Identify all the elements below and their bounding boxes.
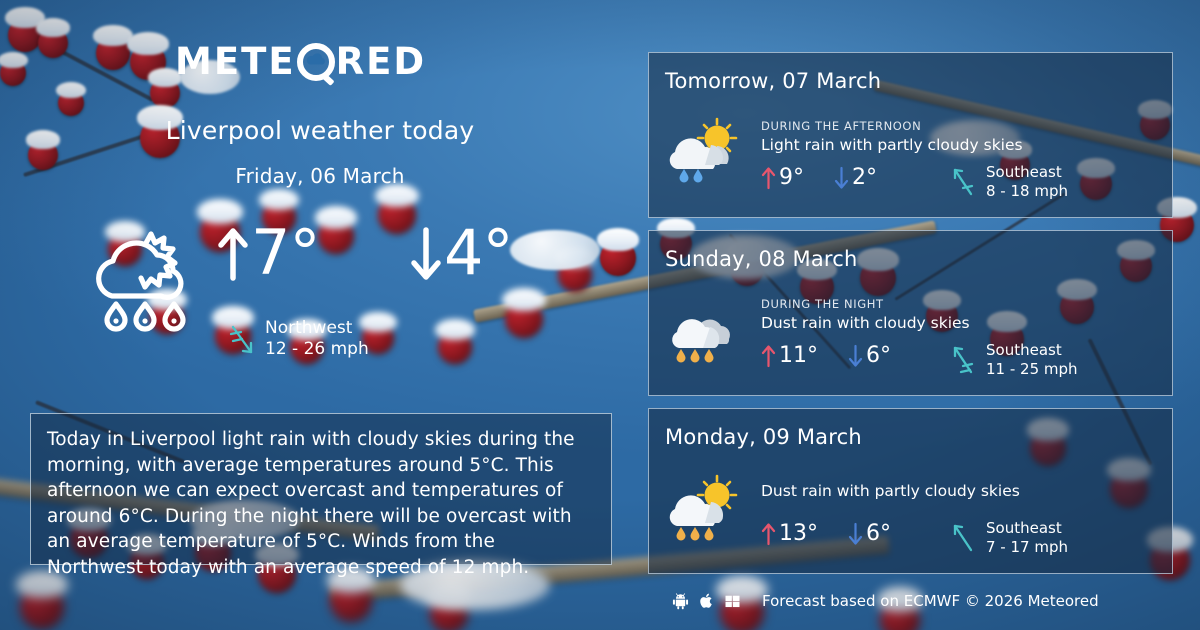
forecast-temps: 11° 6° [761,343,891,369]
footer-credit: Forecast based on ECMWF © 2026 Meteored [762,592,1099,610]
arrow-up-icon [761,343,776,369]
arrow-down-icon [848,521,863,547]
today-summary-row: 7° 4° [0,218,640,358]
forecast-max-temp: 9° [779,165,804,191]
today-wind-speed: 12 - 26 mph [265,339,369,360]
page-title: Liverpool weather today [0,116,640,145]
today-wind-direction: Northwest [265,318,369,339]
today-wind-text: Northwest 12 - 26 mph [265,318,369,360]
today-min-temp-group: 4° [408,222,512,284]
apple-icon[interactable] [698,592,715,610]
forecast-wind-speed: 8 - 18 mph [986,182,1068,201]
double-cloud-dust-rain-icon [667,293,743,369]
arrow-up-icon [215,222,251,284]
arrow-down-icon [834,165,849,191]
arrow-up-icon [761,165,776,191]
forecast-card[interactable]: Monday, 09 March [648,408,1173,574]
forecast-day: Monday, 09 March [665,425,862,449]
forecast-max-temp: 11° [779,343,818,369]
arrow-down-icon [408,222,444,284]
footer: Forecast based on ECMWF © 2026 Meteored [672,592,1099,610]
forecast-max-temp: 13° [779,521,818,547]
forecast-cards-list: Tomorrow, 07 March [648,52,1173,586]
forecast-wind-text: Southeast 7 - 17 mph [986,519,1068,557]
android-icon[interactable] [672,592,689,610]
forecast-min-group: 6° [848,343,891,369]
forecast-condition: Light rain with partly cloudy skies [761,136,1023,154]
arrow-up-icon [761,521,776,547]
forecast-max-group: 11° [761,343,818,369]
forecast-time-label: DURING THE AFTERNOON [761,119,921,133]
forecast-min-group: 2° [834,165,877,191]
sun-cloud-blue-rain-icon [667,115,743,191]
forecast-wind-group: Southeast 8 - 18 mph [949,163,1068,201]
forecast-min-temp: 6° [866,521,891,547]
today-description-box: Today in Liverpool light rain with cloud… [30,413,612,565]
forecast-card[interactable]: Sunday, 08 March DURING THE NIGHT Dust r… [648,230,1173,396]
forecast-condition: Dust rain with partly cloudy skies [761,482,1020,500]
forecast-max-group: 9° [761,165,804,191]
arrow-down-icon [848,343,863,369]
today-date: Friday, 06 March [0,164,640,188]
logo-text-left: METE [175,40,296,84]
forecast-wind-direction: Southeast [986,341,1078,360]
wind-arrow-northwest-icon [949,344,975,376]
windows-icon[interactable] [724,592,741,610]
today-description-text: Today in Liverpool light rain with cloud… [47,427,595,580]
forecast-wind-direction: Southeast [986,163,1068,182]
forecast-min-temp: 2° [852,165,877,191]
today-min-temp: 4° [444,222,512,284]
forecast-condition: Dust rain with cloudy skies [761,314,970,332]
forecast-time-label: DURING THE NIGHT [761,297,884,311]
forecast-wind-text: Southeast 11 - 25 mph [986,341,1078,379]
logo-text-right: RED [336,40,426,84]
cloud-in-o-icon [297,43,335,81]
forecast-min-temp: 6° [866,343,891,369]
sun-behind-cloud-rain-outline-icon [86,228,204,338]
forecast-temps: 9° 2° [761,165,877,191]
forecast-max-group: 13° [761,521,818,547]
forecast-card[interactable]: Tomorrow, 07 March [648,52,1173,218]
forecast-wind-text: Southeast 8 - 18 mph [986,163,1068,201]
today-max-temp: 7° [251,222,319,284]
forecast-day: Tomorrow, 07 March [665,69,881,93]
forecast-wind-speed: 7 - 17 mph [986,538,1068,557]
sun-cloud-dust-rain-icon [667,471,743,547]
forecast-wind-speed: 11 - 25 mph [986,360,1078,379]
forecast-temps: 13° 6° [761,521,891,547]
forecast-wind-group: Southeast 7 - 17 mph [949,519,1068,557]
today-wind-group: Northwest 12 - 26 mph [228,318,369,360]
today-panel: METE RED Liverpool weather today Friday,… [0,0,640,630]
wind-arrow-southeast-icon [228,322,256,356]
forecast-min-group: 6° [848,521,891,547]
wind-arrow-northwest-icon [949,522,975,554]
forecast-day: Sunday, 08 March [665,247,858,271]
meteored-logo[interactable]: METE RED [175,40,426,84]
wind-arrow-northwest-icon [949,166,975,198]
forecast-wind-group: Southeast 11 - 25 mph [949,341,1078,379]
today-max-temp-group: 7° [215,222,319,284]
forecast-wind-direction: Southeast [986,519,1068,538]
